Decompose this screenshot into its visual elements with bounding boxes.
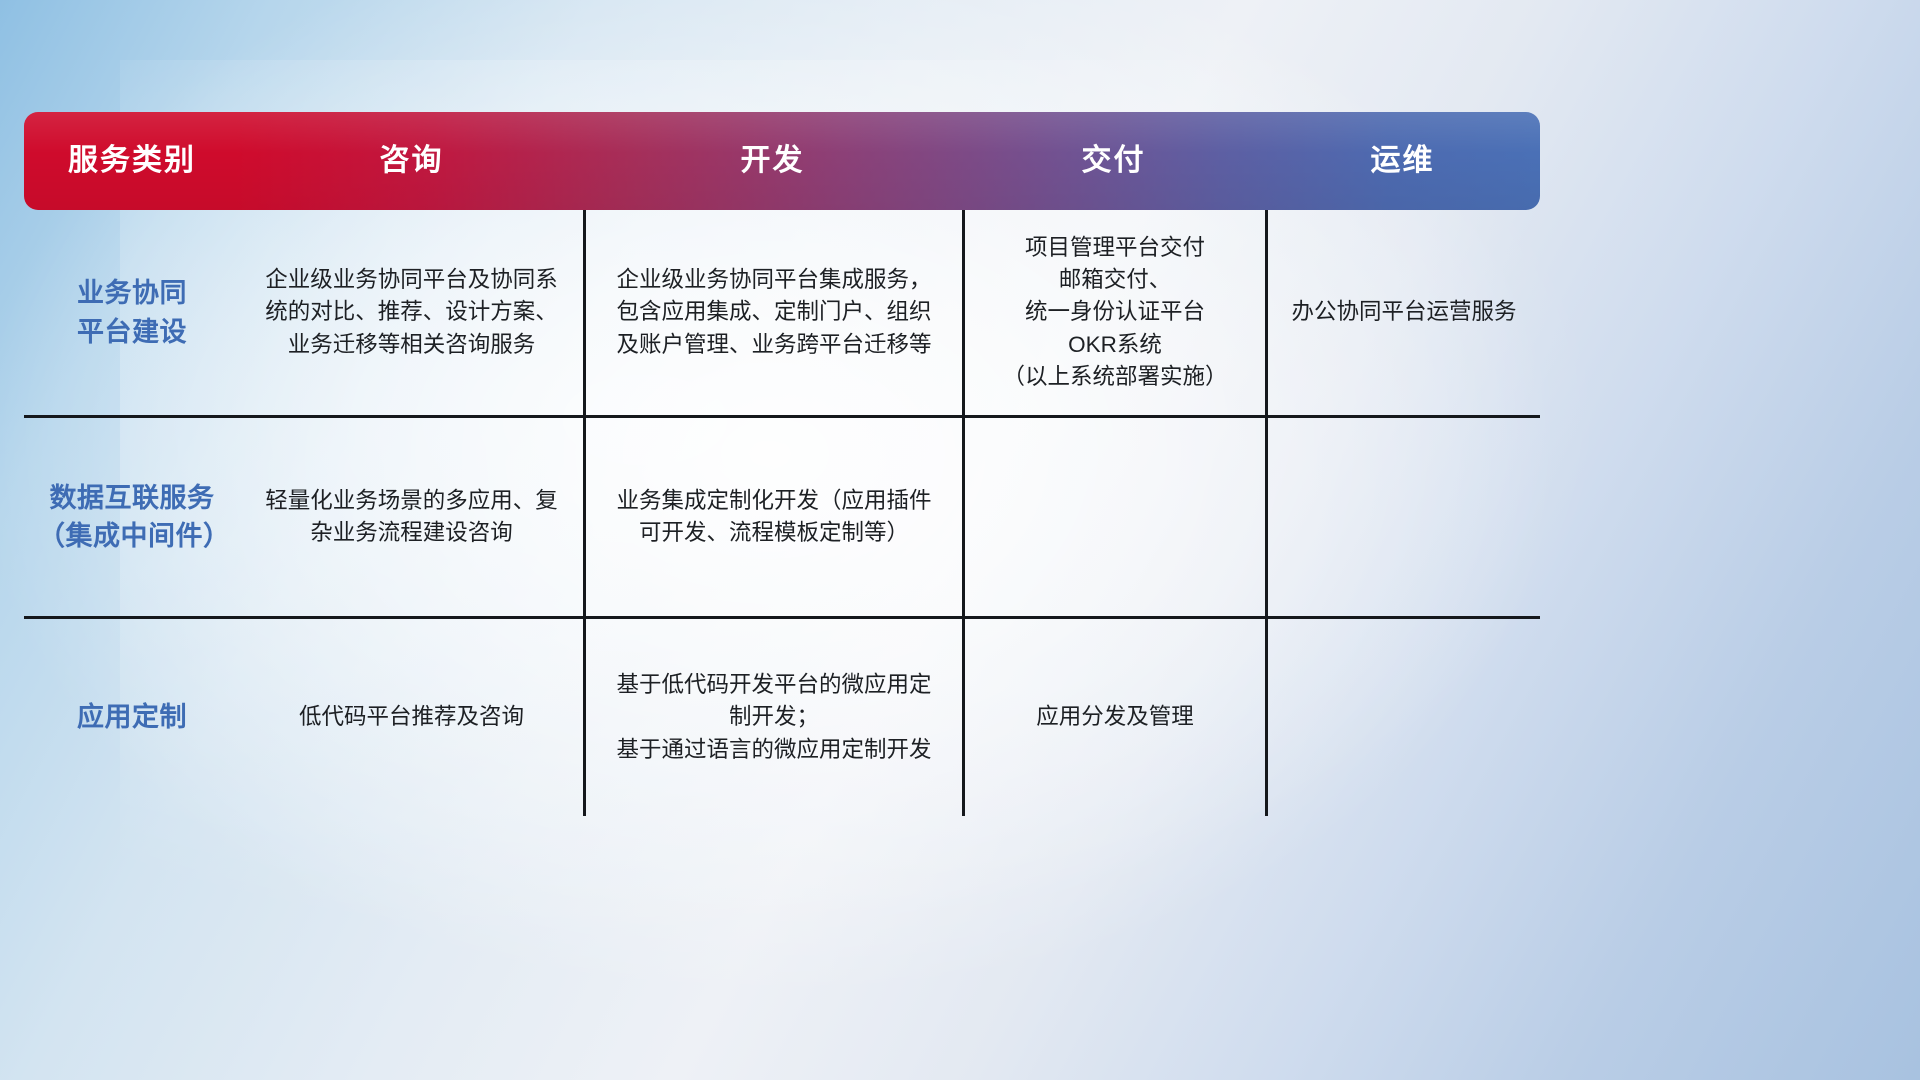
cell-category: 应用定制 <box>24 619 240 816</box>
cell-text: 企业级业务协同平台及协同系统的对比、推荐、设计方案、业务迁移等相关咨询服务 <box>265 264 558 361</box>
cell-category: 数据互联服务（集成中间件） <box>24 418 240 616</box>
cell-development: 企业级业务协同平台集成服务，包含应用集成、定制门户、组织及账户管理、业务跨平台迁… <box>583 210 962 415</box>
column-header-delivery: 交付 <box>962 146 1265 176</box>
cell-text: 低代码平台推荐及咨询 <box>299 701 524 733</box>
column-header-consulting: 咨询 <box>240 146 583 176</box>
slide-canvas: 服务类别 咨询 开发 交付 运维 业务协同平台建设 企业级业务协同平台及协同系统… <box>0 0 1920 1080</box>
category-label: 业务协同平台建设 <box>77 274 187 351</box>
cell-delivery: 项目管理平台交付邮箱交付、统一身份认证平台OKR系统（以上系统部署实施） <box>962 210 1265 415</box>
table-row: 业务协同平台建设 企业级业务协同平台及协同系统的对比、推荐、设计方案、业务迁移等… <box>24 210 1540 415</box>
cell-text: 企业级业务协同平台集成服务，包含应用集成、定制门户、组织及账户管理、业务跨平台迁… <box>616 264 931 361</box>
service-matrix-table: 服务类别 咨询 开发 交付 运维 业务协同平台建设 企业级业务协同平台及协同系统… <box>24 112 1540 816</box>
cell-operations <box>1265 619 1540 816</box>
category-label: 数据互联服务（集成中间件） <box>38 479 226 556</box>
cell-consulting: 企业级业务协同平台及协同系统的对比、推荐、设计方案、业务迁移等相关咨询服务 <box>240 210 583 415</box>
cell-text: 业务集成定制化开发（应用插件可开发、流程模板定制等） <box>616 485 931 550</box>
cell-development: 业务集成定制化开发（应用插件可开发、流程模板定制等） <box>583 418 962 616</box>
cell-text: 基于低代码开发平台的微应用定制开发；基于通过语言的微应用定制开发 <box>616 669 931 766</box>
cell-text: 办公协同平台运营服务 <box>1291 296 1516 328</box>
cell-delivery: 应用分发及管理 <box>962 619 1265 816</box>
column-header-category: 服务类别 <box>24 146 240 176</box>
cell-category: 业务协同平台建设 <box>24 210 240 415</box>
table-body: 业务协同平台建设 企业级业务协同平台及协同系统的对比、推荐、设计方案、业务迁移等… <box>24 210 1540 816</box>
cell-development: 基于低代码开发平台的微应用定制开发；基于通过语言的微应用定制开发 <box>583 619 962 816</box>
cell-text: 轻量化业务场景的多应用、复杂业务流程建设咨询 <box>265 485 558 550</box>
table-row: 数据互联服务（集成中间件） 轻量化业务场景的多应用、复杂业务流程建设咨询 业务集… <box>24 415 1540 616</box>
cell-consulting: 轻量化业务场景的多应用、复杂业务流程建设咨询 <box>240 418 583 616</box>
category-label: 应用定制 <box>77 698 187 736</box>
table-row: 应用定制 低代码平台推荐及咨询 基于低代码开发平台的微应用定制开发；基于通过语言… <box>24 616 1540 816</box>
column-header-development: 开发 <box>583 146 962 176</box>
cell-consulting: 低代码平台推荐及咨询 <box>240 619 583 816</box>
cell-delivery <box>962 418 1265 616</box>
column-header-operations: 运维 <box>1265 146 1540 176</box>
table-header-row: 服务类别 咨询 开发 交付 运维 <box>24 112 1540 210</box>
cell-operations: 办公协同平台运营服务 <box>1265 210 1540 415</box>
cell-text: 项目管理平台交付邮箱交付、统一身份认证平台OKR系统（以上系统部署实施） <box>1002 232 1227 394</box>
cell-text: 应用分发及管理 <box>1036 701 1194 733</box>
cell-operations <box>1265 418 1540 616</box>
